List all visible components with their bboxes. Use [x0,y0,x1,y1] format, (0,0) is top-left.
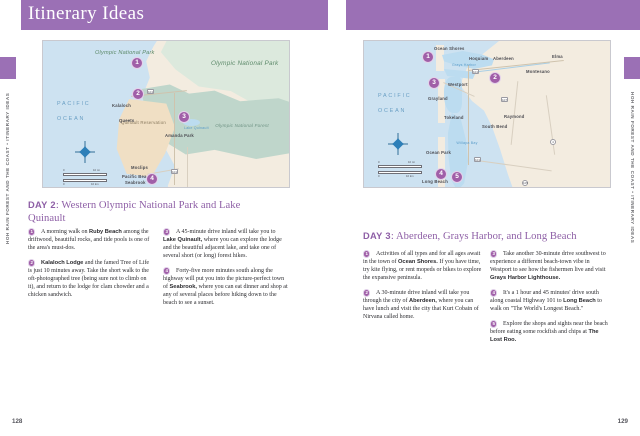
map-western-olympic[interactable]: Olympic National Park Olympic National P… [42,40,290,188]
label-hoquiam: Hoquiam [469,56,488,61]
label-aberdeen: Aberdeen [493,56,514,61]
label-olympic-nf: Olympic National Forest [213,123,271,129]
page-title: Itinerary Ideas [28,3,144,25]
scale-label-0mi: 0 [378,160,380,164]
shield-105: 105 [522,180,528,186]
itinerary-item: 2 A 30-minute drive inland will take you… [363,289,483,321]
scale-label-10mi: 10 mi [408,160,415,164]
label-moclips: Moclips [131,165,148,170]
item-text: A 30-minute drive inland will take you t… [363,289,483,321]
item-text: Take another 30-minute drive southwest t… [490,250,612,282]
shield-101-right: 101 [472,69,479,74]
itinerary-item: 3 A 45-minute drive inland will take you… [163,228,288,260]
spine-tab-left [0,57,16,79]
map-pin-3[interactable]: 3 [428,77,440,89]
itinerary-item: 4 Forty-five more minutes south along th… [163,267,288,307]
map-pin-5[interactable]: 5 [451,171,463,183]
header-gutter [328,0,346,30]
label-ocean-shores: Ocean Shores [434,47,454,52]
map-grays-harbor[interactable]: PACIFIC OCEAN Ocean Shores Hoquiam Aberd… [363,40,611,188]
compass-center [79,146,90,157]
map-pin-3[interactable]: 3 [178,111,190,123]
map-pin-2[interactable]: 2 [132,88,144,100]
scale-bar-miles [63,173,107,176]
item-text: Forty-five more minutes south along the … [163,267,288,307]
spine-tab-right [624,57,640,79]
label-ocean: OCEAN [378,108,406,114]
day3-column-right: 3 Take another 30-minute drive southwest… [490,250,612,351]
shield-4: 4 [550,139,556,145]
scale-label-0km: 0 [378,174,380,178]
day3-column-left: 1 Activities of all types and for all ag… [363,250,483,328]
scale-label-0mi: 0 [63,168,65,172]
itinerary-item: 2 Kalaloch Lodge and the famed Tree of L… [28,259,153,299]
label-south-bend: South Bend [482,125,498,130]
label-raymond: Raymond [504,114,524,119]
label-pacific: PACIFIC [57,101,90,107]
item-text: Kalaloch Lodge and the famed Tree of Lif… [28,259,153,299]
label-olympic-np-east: Olympic National Park [211,61,273,68]
label-ocean: OCEAN [57,116,85,122]
highway-101-right [468,65,469,165]
spread: Itinerary Ideas HOH RAIN FOREST AND THE … [0,0,640,436]
item-text: Explore the shops and sights near the be… [490,320,612,344]
road-east [187,147,188,187]
shield-107: 107 [501,97,508,102]
label-grays-harbor: Grays Harbor [452,63,476,67]
label-seabrook: Seabrook [125,180,146,185]
shield-101-south: 101 [474,157,481,162]
scale-bar-km [63,179,107,182]
label-kalaloch: Kalaloch [112,103,131,108]
compass-center [392,138,403,149]
running-head-left: HOH RAIN FOREST AND THE COAST • ITINERAR… [1,88,15,248]
itinerary-item: 1 Activities of all types and for all ag… [363,250,483,282]
map-pin-1[interactable]: 1 [131,57,143,69]
item-text: A morning walk on Ruby Beach among the d… [28,228,153,252]
map-pin-2[interactable]: 2 [489,72,501,84]
item-text: Activities of all types and for all ages… [363,250,483,282]
map-pin-4[interactable]: 4 [435,168,447,180]
label-willapa-bay: Willapa Bay [456,141,478,145]
scale-label-10km: 10 km [406,174,414,178]
label-tokeland: Tokeland [444,115,464,120]
day2-title: : Western Olympic National Park and Lake… [28,200,240,224]
label-amanda-park: Amanda Park [165,133,187,138]
label-montesano: Montesano [526,69,550,74]
label-ocean-park: Ocean Park [426,150,451,155]
compass-rose [388,133,408,155]
compass-rose [75,141,95,163]
running-head-right: HOH RAIN FOREST AND THE COAST • ITINERAR… [625,88,639,248]
scale-bar-km [378,171,422,174]
scale-bar-miles [378,165,422,168]
label-long-beach: Long Beach [422,179,448,184]
itinerary-item: 3 Take another 30-minute drive southwest… [490,250,612,282]
item-text: A 45-minute drive inland will take you t… [163,228,288,260]
scale-label-0km: 0 [63,182,65,186]
scale-label-10km: 10 km [91,182,99,186]
day2-label: DAY 2 [28,200,56,210]
shield-101-a: 101 [147,89,154,94]
page-number-left: 128 [12,418,22,425]
itinerary-item: 5 Explore the shops and sights near the … [490,320,612,344]
day2-column-right: 3 A 45-minute drive inland will take you… [163,228,288,314]
label-queets: Queets [119,118,134,123]
day3-label: DAY 3 [363,231,391,241]
map-pin-1[interactable]: 1 [422,51,434,63]
item-text: It's a 1 hour and 45 minutes' drive sout… [490,289,612,313]
itinerary-item: 1 A morning walk on Ruby Beach among the… [28,228,153,252]
label-pacific: PACIFIC [378,93,411,99]
label-grayland: Grayland [428,96,448,101]
map-pin-4[interactable]: 4 [146,173,158,185]
itinerary-item: 4 It's a 1 hour and 45 minutes' drive so… [490,289,612,313]
page-number-right: 129 [618,418,628,425]
day3-heading: DAY 3: Aberdeen, Grays Harbor, and Long … [363,230,618,244]
label-lake-quinault: Lake Quinault [184,126,206,130]
shield-101-b: 101 [171,169,178,174]
label-westport: Westport [448,82,468,87]
scale-label-10mi: 10 mi [93,168,100,172]
day2-column-left: 1 A morning walk on Ruby Beach among the… [28,228,153,306]
day2-heading: DAY 2: Western Olympic National Park and… [28,199,278,225]
label-elma: Elma [552,54,563,59]
label-olympic-np-west: Olympic National Park [95,50,141,57]
day3-title: : Aberdeen, Grays Harbor, and Long Beach [391,231,577,242]
